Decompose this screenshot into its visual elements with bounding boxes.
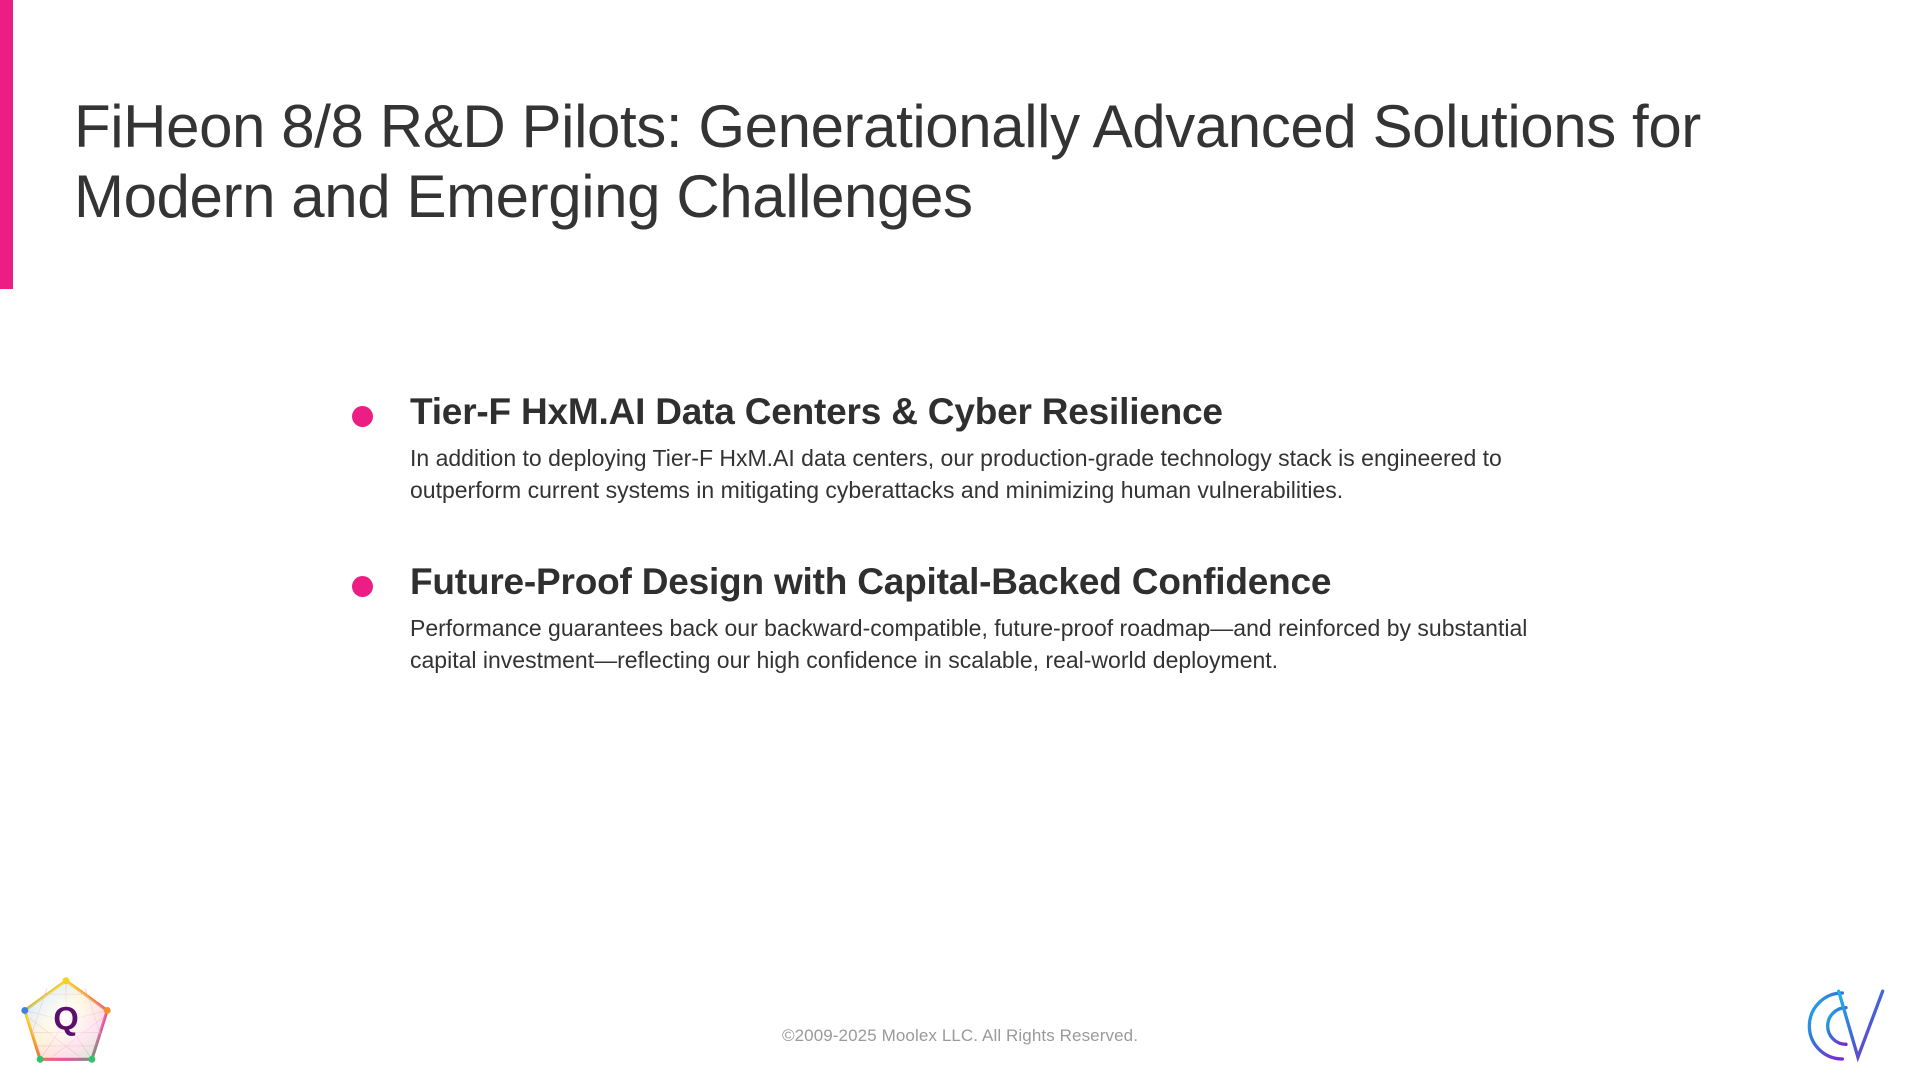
pentagon-vertex-dot (21, 1007, 28, 1014)
ca-outer-arc (1809, 993, 1842, 1059)
pentagon-vertex-dot (104, 1007, 111, 1014)
logo-letter-q: Q (53, 1001, 78, 1037)
ca-monogram-logo (1800, 982, 1892, 1070)
pentagon-q-logo: Q (18, 975, 114, 1067)
bullet-list: Tier-F HxM.AI Data Centers & Cyber Resil… (348, 388, 1598, 677)
footer-copyright: ©2009-2025 Moolex LLC. All Rights Reserv… (0, 1026, 1920, 1046)
title-accent-bar (0, 0, 13, 289)
bullet-marker-icon (352, 406, 373, 427)
list-item: Tier-F HxM.AI Data Centers & Cyber Resil… (348, 388, 1598, 506)
ca-inner-arc (1828, 1008, 1846, 1045)
bullet-heading: Future-Proof Design with Capital-Backed … (410, 558, 1470, 607)
list-item: Future-Proof Design with Capital-Backed … (348, 558, 1598, 676)
bullet-heading: Tier-F HxM.AI Data Centers & Cyber Resil… (410, 388, 1470, 437)
bullet-body: In addition to deploying Tier-F HxM.AI d… (410, 443, 1545, 506)
bullet-marker-icon (352, 576, 373, 597)
page-title: FiHeon 8/8 R&D Pilots: Generationally Ad… (74, 92, 1774, 232)
pentagon-vertex-dot (63, 977, 70, 984)
ca-letter-a-v (1839, 991, 1883, 1057)
pentagon-vertex-dot (88, 1056, 95, 1063)
bullet-body: Performance guarantees back our backward… (410, 613, 1545, 676)
pentagon-vertex-dot (37, 1056, 44, 1063)
